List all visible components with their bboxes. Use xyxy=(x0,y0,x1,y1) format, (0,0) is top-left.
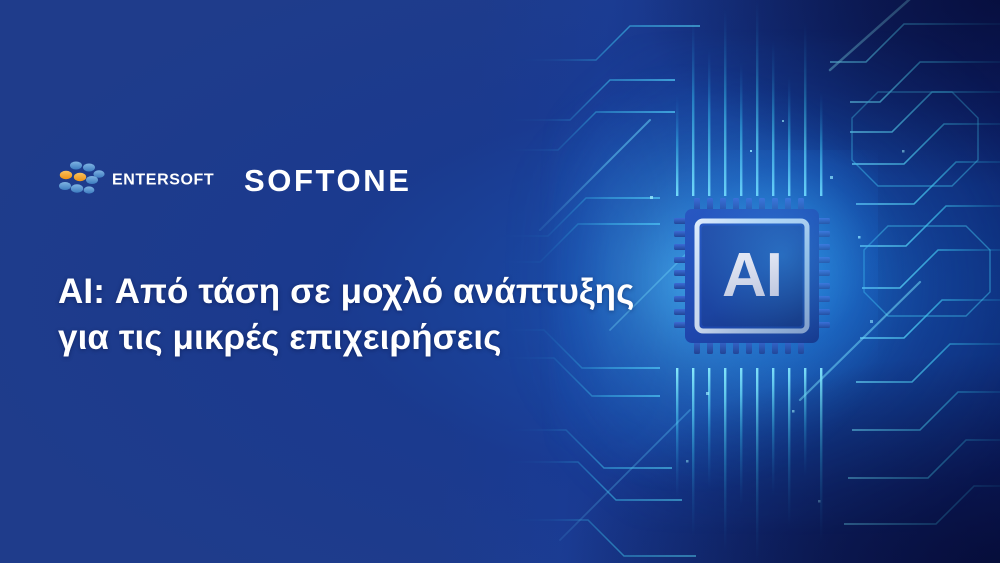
entersoft-dots-icon xyxy=(58,160,106,203)
entersoft-wordmark-text: ENTERSOFT xyxy=(112,172,214,189)
entersoft-logo[interactable]: ENTERSOFT xyxy=(58,160,230,203)
headline: AI: Από τάση σε μοχλό ανάπτυξης για τις … xyxy=(58,269,678,360)
headline-line-2: για τις μικρές επιχειρήσεις xyxy=(58,315,678,361)
brand-logo-lockup[interactable]: ENTERSOFT SOFTONE xyxy=(58,160,411,203)
ai-chip-graphic: AI xyxy=(672,196,832,356)
entersoft-wordmark: ENTERSOFT xyxy=(112,169,230,194)
softone-wordmark: SOFTONE xyxy=(244,165,411,196)
ai-promo-banner: AI xyxy=(0,0,1000,563)
headline-line-1: AI: Από τάση σε μοχλό ανάπτυξης xyxy=(58,269,678,315)
